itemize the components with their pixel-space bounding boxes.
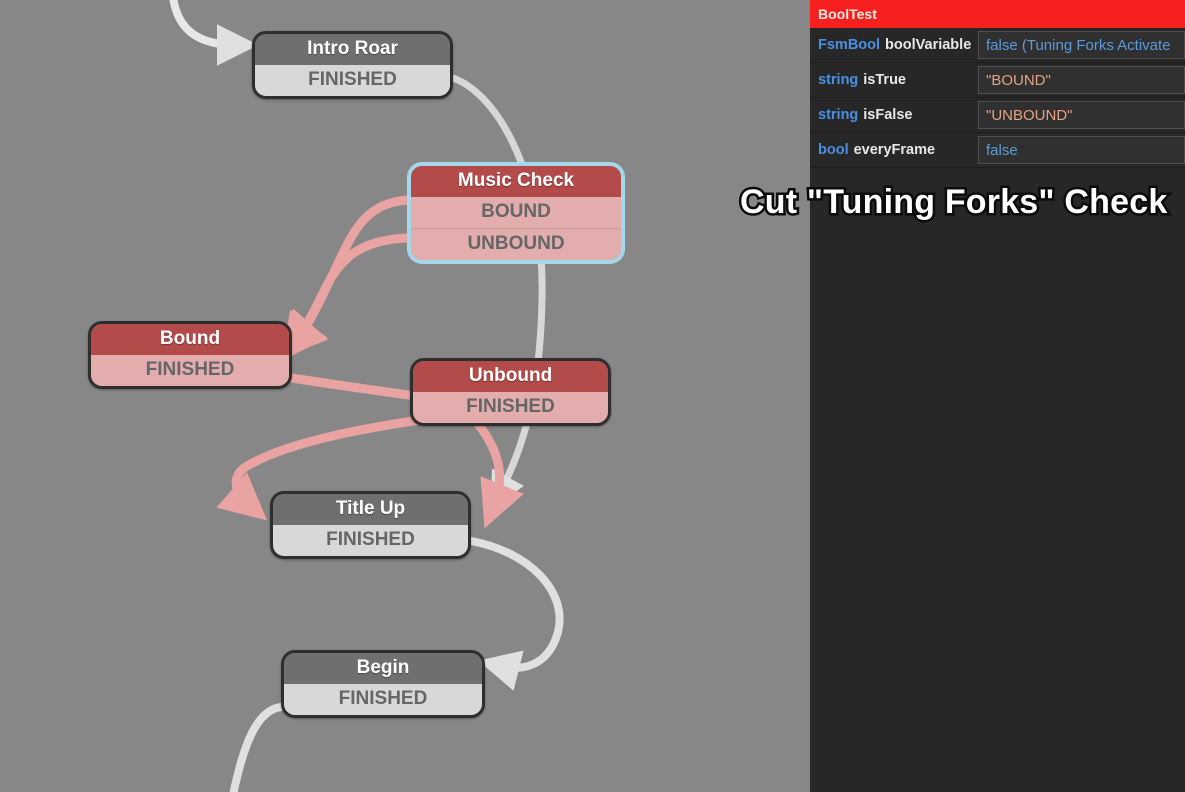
property-label: bool everyFrame	[810, 133, 978, 167]
state-transition[interactable]: FINISHED	[91, 355, 289, 386]
state-node-title: Unbound	[413, 361, 608, 392]
edge-begin-to-offscreen	[232, 707, 281, 792]
property-row-isTrue: string isTrue "BOUND"	[810, 63, 1185, 98]
state-node-unbound[interactable]: Unbound FINISHED	[410, 358, 611, 426]
property-type: bool	[818, 142, 849, 158]
state-node-title: Music Check	[411, 166, 621, 197]
property-row-isFalse: string isFalse "UNBOUND"	[810, 98, 1185, 133]
action-title: BoolTest	[818, 6, 877, 22]
state-transition-unbound[interactable]: UNBOUND	[411, 228, 621, 260]
state-node-title: Intro Roar	[255, 34, 450, 65]
edge-unbound-to-title-up	[478, 424, 500, 505]
fsm-editor-window: Intro Roar FINISHED Music Check BOUND UN…	[0, 0, 1185, 792]
property-type: FsmBool	[818, 37, 880, 53]
edge-enter-intro-roar	[172, 0, 236, 45]
state-node-music-check[interactable]: Music Check BOUND UNBOUND	[408, 163, 624, 263]
annotation-caption: Cut "Tuning Forks" Check	[740, 183, 1167, 222]
property-name: everyFrame	[854, 142, 935, 158]
edge-music-check-unbound	[296, 238, 408, 341]
property-label: FsmBool boolVariable	[810, 28, 978, 62]
state-node-begin[interactable]: Begin FINISHED	[281, 650, 485, 718]
property-row-everyFrame: bool everyFrame false	[810, 133, 1185, 168]
property-value-field[interactable]: "BOUND"	[978, 66, 1185, 94]
state-node-title: Title Up	[273, 494, 468, 525]
state-transition[interactable]: FINISHED	[273, 525, 468, 556]
property-label: string isFalse	[810, 98, 978, 132]
action-header[interactable]: BoolTest	[810, 0, 1185, 28]
property-name: isTrue	[863, 72, 906, 88]
property-name: boolVariable	[885, 37, 971, 53]
property-value-field[interactable]: false (Tuning Forks Activate	[978, 31, 1185, 59]
property-label: string isTrue	[810, 63, 978, 97]
action-inspector-panel: BoolTest FsmBool boolVariable false (Tun…	[810, 0, 1185, 792]
state-transition[interactable]: FINISHED	[255, 65, 450, 96]
state-transition-bound[interactable]: BOUND	[411, 197, 621, 228]
property-type: string	[818, 107, 858, 123]
state-node-title-up[interactable]: Title Up FINISHED	[270, 491, 471, 559]
property-type: string	[818, 72, 858, 88]
property-name: isFalse	[863, 107, 912, 123]
property-value-field[interactable]: false	[978, 136, 1185, 164]
property-row-boolVariable: FsmBool boolVariable false (Tuning Forks…	[810, 28, 1185, 63]
state-node-intro-roar[interactable]: Intro Roar FINISHED	[252, 31, 453, 99]
state-transition[interactable]: FINISHED	[413, 392, 608, 423]
property-value-field[interactable]: "UNBOUND"	[978, 101, 1185, 129]
state-transition[interactable]: FINISHED	[284, 684, 482, 715]
edge-intro-roar-to-title-up	[453, 78, 542, 492]
state-node-title: Begin	[284, 653, 482, 684]
fsm-graph-canvas[interactable]: Intro Roar FINISHED Music Check BOUND UN…	[0, 0, 810, 792]
state-node-title: Bound	[91, 324, 289, 355]
state-node-bound[interactable]: Bound FINISHED	[88, 321, 292, 389]
edge-title-up-to-begin	[471, 541, 560, 668]
